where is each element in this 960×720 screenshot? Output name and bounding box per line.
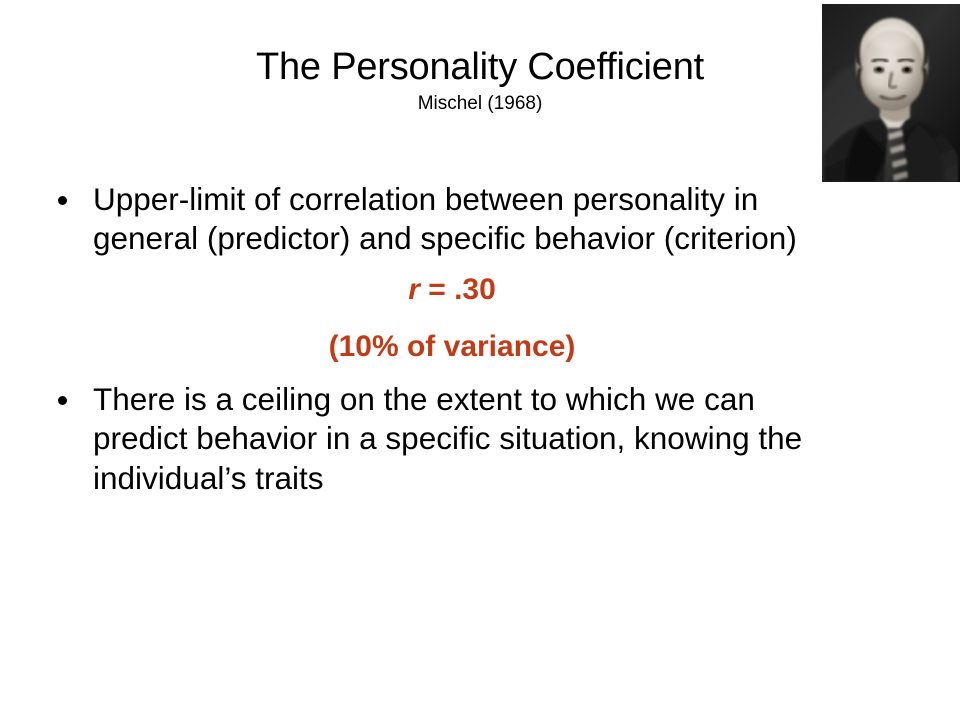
list-item: Upper-limit of correlation between perso… — [52, 180, 852, 259]
statistic-symbol: r — [408, 273, 420, 306]
slide-body: Upper-limit of correlation between perso… — [52, 180, 852, 498]
statistic-equation: = .30 — [428, 273, 496, 306]
bullet-dot-icon — [58, 196, 67, 205]
title-block: The Personality Coefficient Mischel (196… — [0, 48, 960, 115]
bullet-text: There is a ceiling on the extent to whic… — [93, 381, 802, 496]
page-title: The Personality Coefficient — [0, 48, 960, 88]
bullet-dot-icon — [58, 396, 67, 405]
statistic-callout: r = .30 — [52, 271, 852, 309]
list-item: There is a ceiling on the extent to whic… — [52, 380, 852, 498]
slide-canvas: The Personality Coefficient Mischel (196… — [0, 0, 960, 720]
variance-callout: (10% of variance) — [52, 328, 852, 366]
bullet-text: Upper-limit of correlation between perso… — [93, 181, 797, 256]
bullet-list-top: Upper-limit of correlation between perso… — [52, 180, 852, 259]
slide-subtitle: Mischel (1968) — [0, 94, 960, 115]
bullet-list-bottom: There is a ceiling on the extent to whic… — [52, 380, 852, 498]
